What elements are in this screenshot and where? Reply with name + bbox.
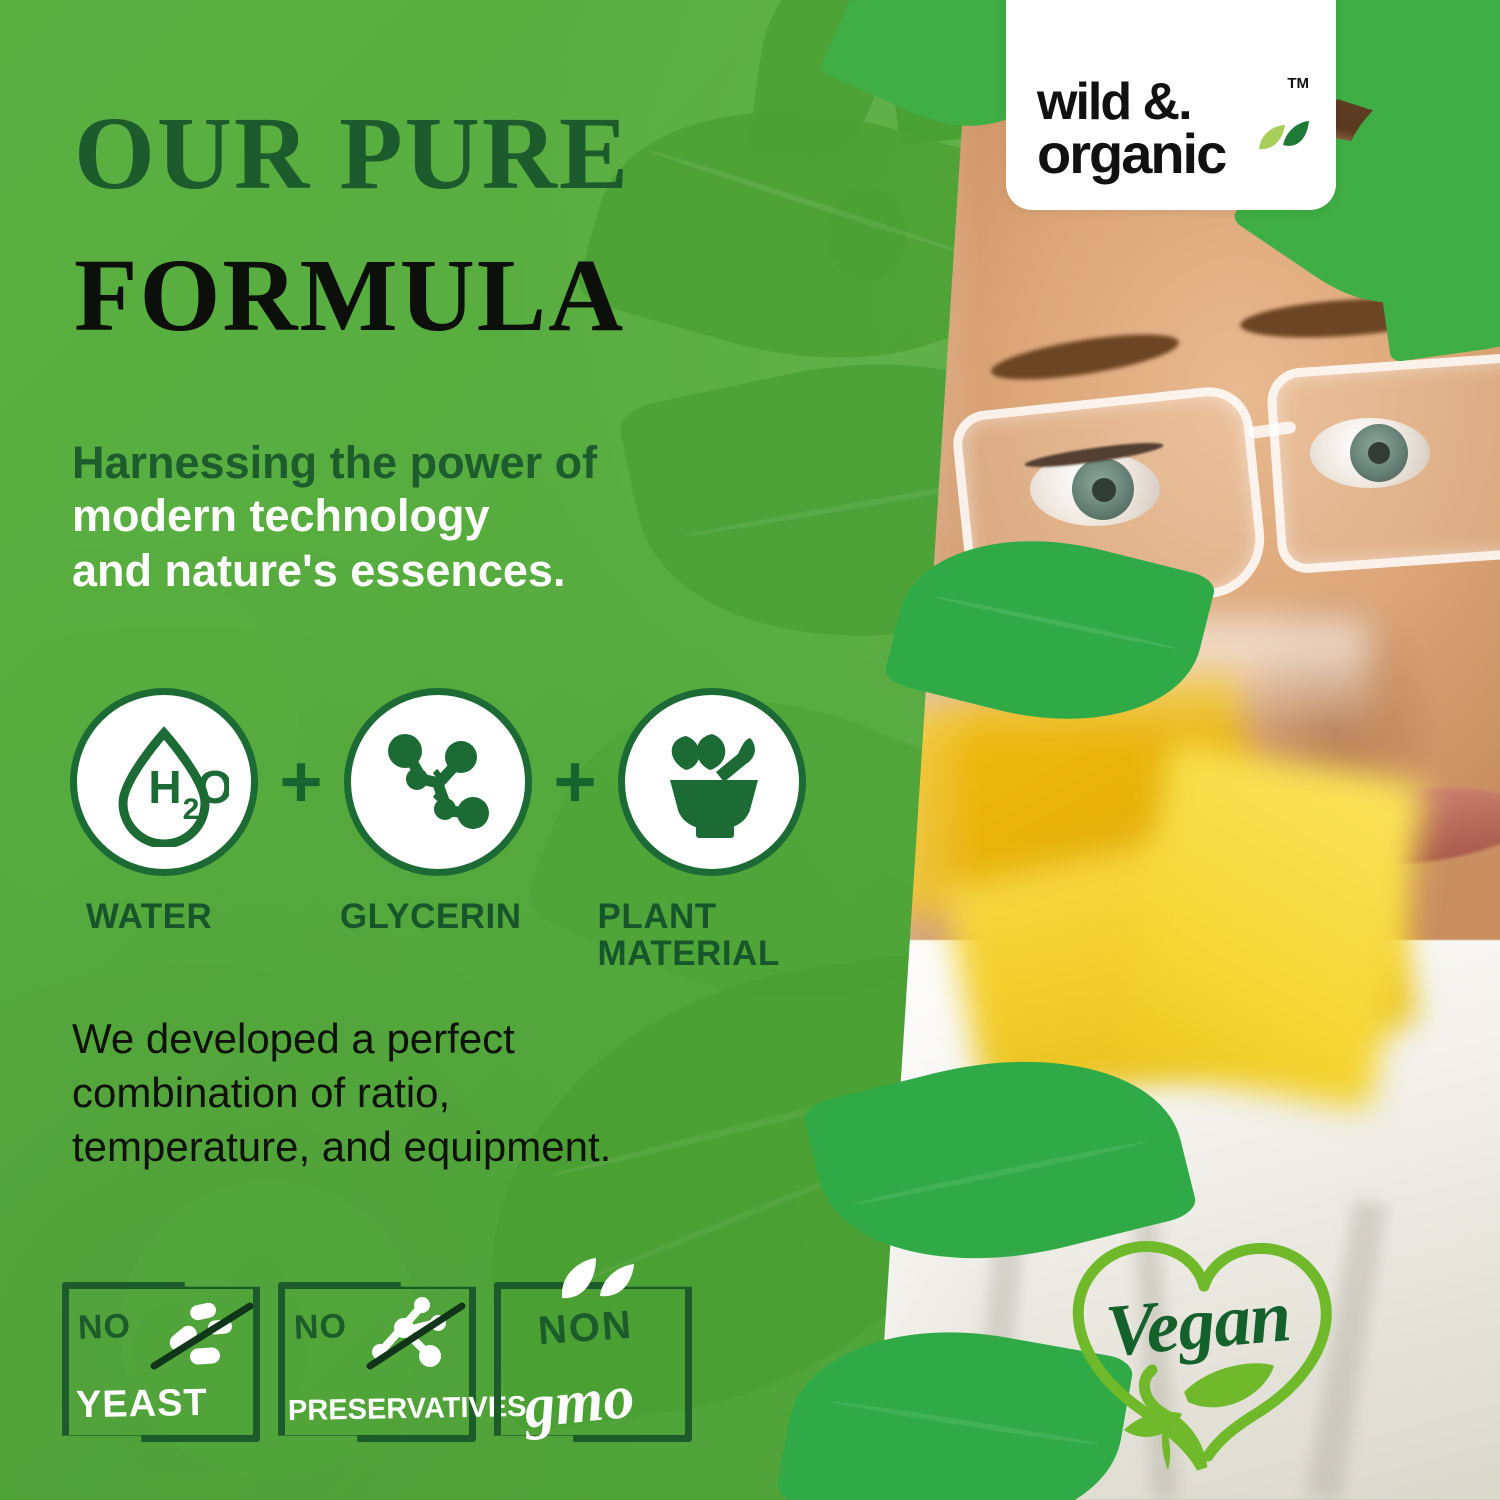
vegan-label: Vegan xyxy=(1103,1274,1294,1375)
subheading-line-1: Harnessing the power of xyxy=(72,436,772,489)
ingredient-label-plant-2: MATERIAL xyxy=(598,935,831,972)
paragraph-line-3: temperature, and equipment. xyxy=(72,1120,792,1174)
infographic-canvas: wild &. organic TM OUR PURE FORMULA Harn… xyxy=(0,0,1500,1500)
badge-word: PRESERVATIVES xyxy=(288,1391,527,1428)
subheading-line-2: modern technology xyxy=(72,489,772,544)
subheading-block: Harnessing the power of modern technolog… xyxy=(72,436,772,599)
ingredient-icon-plant[interactable] xyxy=(618,688,806,876)
paragraph-line-2: combination of ratio, xyxy=(72,1066,792,1120)
ingredient-labels: WATER GLYCERIN PLANT MATERIAL xyxy=(70,898,830,972)
ingredient-label-water: WATER xyxy=(86,898,328,935)
badge-word: gmo xyxy=(521,1361,638,1443)
brand-logo-card[interactable]: wild &. organic TM xyxy=(1006,0,1336,210)
molecule-icon xyxy=(373,717,503,847)
badge-no-yeast[interactable]: NO YEAST xyxy=(62,1282,260,1442)
plus-separator-2: + xyxy=(532,745,618,819)
badge-prefix: NON xyxy=(537,1303,635,1355)
page-title-line-2: FORMULA xyxy=(74,236,625,355)
certification-badges: NO YEAST NO xyxy=(62,1282,692,1442)
badge-prefix: NO xyxy=(77,1307,131,1348)
ingredient-row: H 2 O + xyxy=(70,688,830,972)
svg-text:H: H xyxy=(148,761,181,813)
paragraph-line-1: We developed a perfect xyxy=(72,1012,792,1066)
badge-non-gmo[interactable]: NON gmo xyxy=(494,1282,692,1442)
ingredient-label-plant: PLANT xyxy=(598,898,831,935)
ingredient-icon-water[interactable]: H 2 O xyxy=(70,688,258,876)
page-title-line-1: OUR PURE xyxy=(74,94,630,213)
non-gmo-leaves-icon xyxy=(552,1256,646,1306)
mortar-pestle-icon xyxy=(646,716,778,848)
svg-text:O: O xyxy=(197,761,229,813)
subheading-line-3: and nature's essences. xyxy=(72,544,772,599)
ingredient-label-glycerin: GLYCERIN xyxy=(340,898,586,935)
water-drop-h2o-icon: H 2 O xyxy=(99,717,229,847)
badge-no-preservatives[interactable]: NO PRESERVATIVES xyxy=(278,1282,476,1442)
no-preservatives-icon xyxy=(362,1294,470,1376)
no-yeast-icon xyxy=(146,1296,256,1376)
plus-separator-1: + xyxy=(258,745,344,819)
leaf-pair-icon xyxy=(1255,119,1311,165)
badge-word: YEAST xyxy=(76,1382,208,1427)
safety-glasses-icon xyxy=(1265,350,1500,575)
badge-prefix: NO xyxy=(293,1307,347,1348)
vegan-badge[interactable]: Vegan xyxy=(1052,1224,1362,1494)
ingredient-icon-glycerin[interactable] xyxy=(344,688,532,876)
body-paragraph: We developed a perfect combination of ra… xyxy=(72,1012,792,1173)
trademark-symbol: TM xyxy=(1287,75,1309,92)
